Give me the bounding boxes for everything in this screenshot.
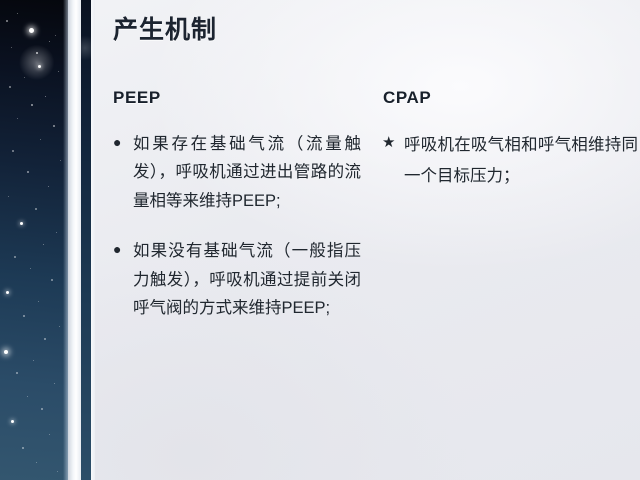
list-item: ● 如果存在基础气流（流量触发），呼吸机通过进出管路的流量相等来维持PEEP;	[113, 130, 361, 215]
star-bullet-icon: ★	[382, 130, 395, 156]
round-bullet-icon: ●	[113, 130, 121, 154]
divider-strip-light	[68, 0, 81, 480]
column-heading-cpap: CPAP	[383, 88, 638, 108]
band-glow	[0, 0, 68, 480]
column-cpap: CPAP ★ 呼吸机在吸气相和呼气相维持同一个目标压力；	[383, 88, 638, 193]
divider-strip-dark	[81, 0, 91, 480]
list-item: ★ 呼吸机在吸气相和呼气相维持同一个目标压力；	[383, 130, 638, 193]
list-item: ● 如果没有基础气流（一般指压力触发），呼吸机通过提前关闭呼气阀的方式来维持PE…	[113, 237, 361, 322]
round-bullet-icon: ●	[113, 237, 121, 261]
column-heading-peep: PEEP	[113, 88, 361, 108]
bullet-list-peep: ● 如果存在基础气流（流量触发），呼吸机通过进出管路的流量相等来维持PEEP; …	[113, 130, 361, 322]
list-item-text: 如果没有基础气流（一般指压力触发），呼吸机通过提前关闭呼气阀的方式来维持PEEP…	[133, 242, 361, 317]
column-peep: PEEP ● 如果存在基础气流（流量触发），呼吸机通过进出管路的流量相等来维持P…	[113, 88, 361, 322]
presentation-slide: 产生机制 PEEP ● 如果存在基础气流（流量触发），呼吸机通过进出管路的流量相…	[0, 0, 640, 480]
list-item-text: 呼吸机在吸气相和呼气相维持同一个目标压力；	[404, 136, 638, 185]
slide-content: 产生机制 PEEP ● 如果存在基础气流（流量触发），呼吸机通过进出管路的流量相…	[95, 0, 640, 480]
page-title: 产生机制	[113, 17, 217, 45]
strip-glow	[81, 0, 91, 480]
list-item-text: 如果存在基础气流（流量触发），呼吸机通过进出管路的流量相等来维持PEEP;	[133, 135, 361, 210]
bullet-list-cpap: ★ 呼吸机在吸气相和呼气相维持同一个目标压力；	[383, 130, 638, 193]
starfield-decoration-band	[0, 0, 68, 480]
